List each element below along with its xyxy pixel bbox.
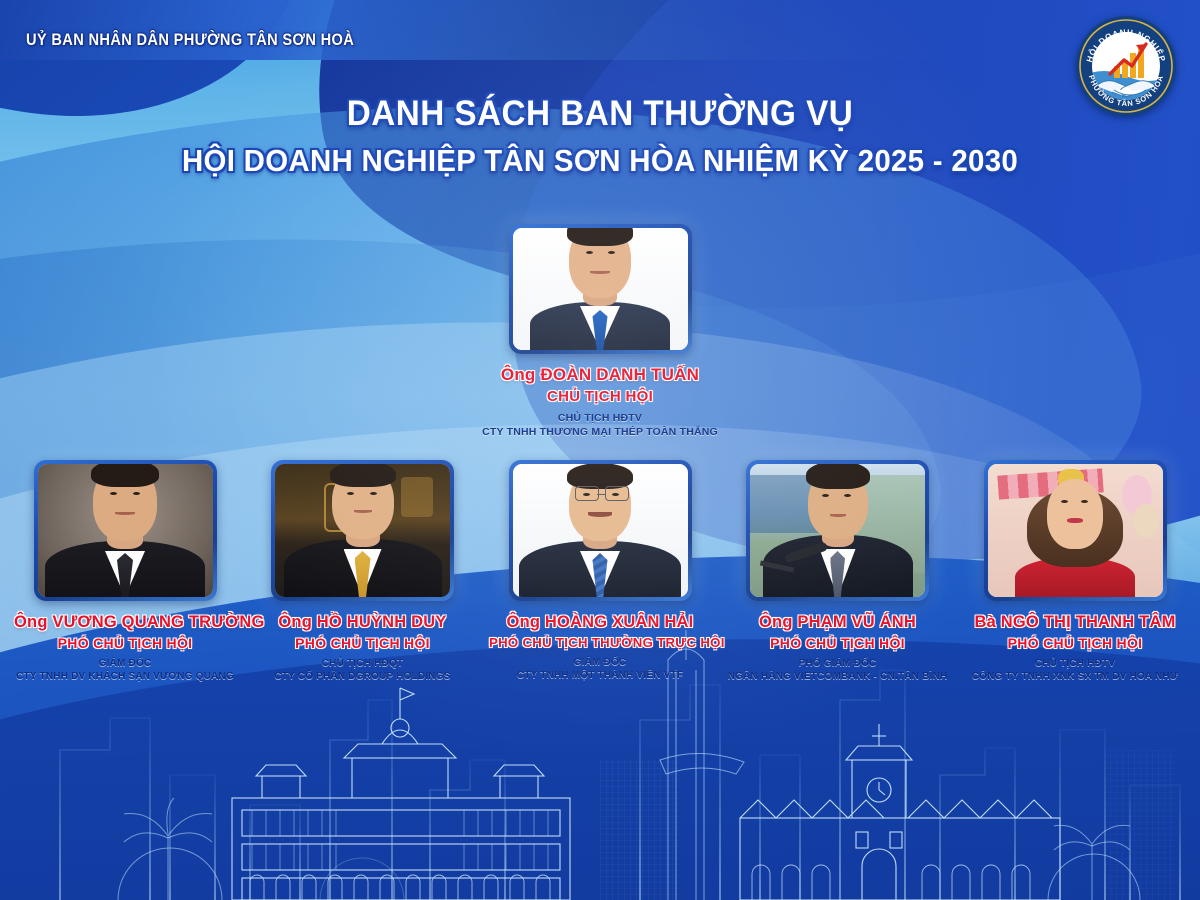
executive-board-row: Ông VƯƠNG QUANG TRƯỜNG PHÓ CHỦ TỊCH HỘI …	[0, 460, 1200, 682]
title-line-1: DANH SÁCH BAN THƯỜNG VỤ	[30, 94, 1170, 134]
member-name: Ông PHẠM VŨ ÁNH	[727, 613, 949, 632]
member-photo-frame	[34, 460, 217, 601]
member-position: PHÓ GIÁM ĐỐC	[727, 658, 949, 669]
member-photo-frame	[509, 460, 692, 601]
member-company: CTY CỔ PHẦN DGROUP HOLDINGS	[252, 671, 474, 682]
member-position: CHỦ TỊCH HĐTV	[964, 658, 1186, 669]
member-card: Ông VƯƠNG QUANG TRƯỜNG PHÓ CHỦ TỊCH HỘI …	[14, 460, 236, 682]
member-photo-frame	[984, 460, 1167, 601]
poster-canvas: UỶ BAN NHÂN DÂN PHƯỜNG TÂN SƠN HOÀ	[0, 0, 1200, 900]
member-company: CTY TNHH MỘT THÀNH VIÊN VTF	[489, 670, 711, 681]
chairman-role: CHỦ TỊCH HỘI	[0, 388, 1200, 405]
chairman-company: CTY TNHH THƯƠNG MẠI THÉP TOÀN THẮNG	[0, 426, 1200, 438]
member-role: PHÓ CHỦ TỊCH HỘI	[252, 635, 474, 651]
member-name: Ông HOÀNG XUÂN HẢI	[489, 613, 711, 632]
chairman-position: CHỦ TỊCH HĐTV	[0, 412, 1200, 424]
member-position: CHỦ TỊCH HĐQT	[252, 658, 474, 669]
chairman-card: Ông ĐOÀN DANH TUẤN CHỦ TỊCH HỘI CHỦ TỊCH…	[0, 224, 1200, 438]
member-card: Bà NGÔ THỊ THANH TÂM PHÓ CHỦ TỊCH HỘI CH…	[964, 460, 1186, 682]
page-title: DANH SÁCH BAN THƯỜNG VỤ HỘI DOANH NGHIỆP…	[0, 94, 1200, 179]
member-position: GIÁM ĐỐC	[489, 657, 711, 668]
member-photo	[513, 464, 688, 597]
title-line-2: HỘI DOANH NGHIỆP TÂN SƠN HÒA NHIỆM KỲ 20…	[30, 143, 1170, 179]
member-role: PHÓ CHỦ TỊCH THƯỜNG TRỰC HỘI	[489, 635, 711, 650]
chairman-photo	[513, 228, 688, 350]
member-card: Ông HOÀNG XUÂN HẢI PHÓ CHỦ TỊCH THƯỜNG T…	[489, 460, 711, 681]
member-company: CÔNG TY TNHH XNK SX TM DV HOA NHƯ	[964, 671, 1186, 682]
member-role: PHÓ CHỦ TỊCH HỘI	[14, 635, 236, 651]
member-position: GIÁM ĐỐC	[14, 658, 236, 669]
member-company: CTY TNHH DV KHÁCH SẠN VƯƠNG QUANG	[14, 671, 236, 682]
member-card: Ông PHẠM VŨ ÁNH PHÓ CHỦ TỊCH HỘI PHÓ GIÁ…	[727, 460, 949, 682]
organization-title: UỶ BAN NHÂN DÂN PHƯỜNG TÂN SƠN HOÀ	[26, 30, 354, 50]
member-name: Bà NGÔ THỊ THANH TÂM	[964, 613, 1186, 632]
member-name: Ông HỒ HUỲNH DUY	[252, 613, 474, 632]
member-name: Ông VƯƠNG QUANG TRƯỜNG	[14, 613, 236, 632]
member-role: PHÓ CHỦ TỊCH HỘI	[964, 635, 1186, 651]
member-photo-frame	[746, 460, 929, 601]
chairman-name: Ông ĐOÀN DANH TUẤN	[0, 365, 1200, 385]
member-card: Ông HỒ HUỲNH DUY PHÓ CHỦ TỊCH HỘI CHỦ TỊ…	[252, 460, 474, 682]
member-photo	[38, 464, 213, 597]
member-role: PHÓ CHỦ TỊCH HỘI	[727, 635, 949, 651]
member-photo-frame	[271, 460, 454, 601]
chairman-photo-frame	[509, 224, 692, 354]
member-photo	[275, 464, 450, 597]
member-company: NGÂN HÀNG VIETCOMBANK - CN.TÂN BÌNH	[727, 671, 949, 682]
member-photo	[988, 464, 1163, 597]
member-photo	[750, 464, 925, 597]
